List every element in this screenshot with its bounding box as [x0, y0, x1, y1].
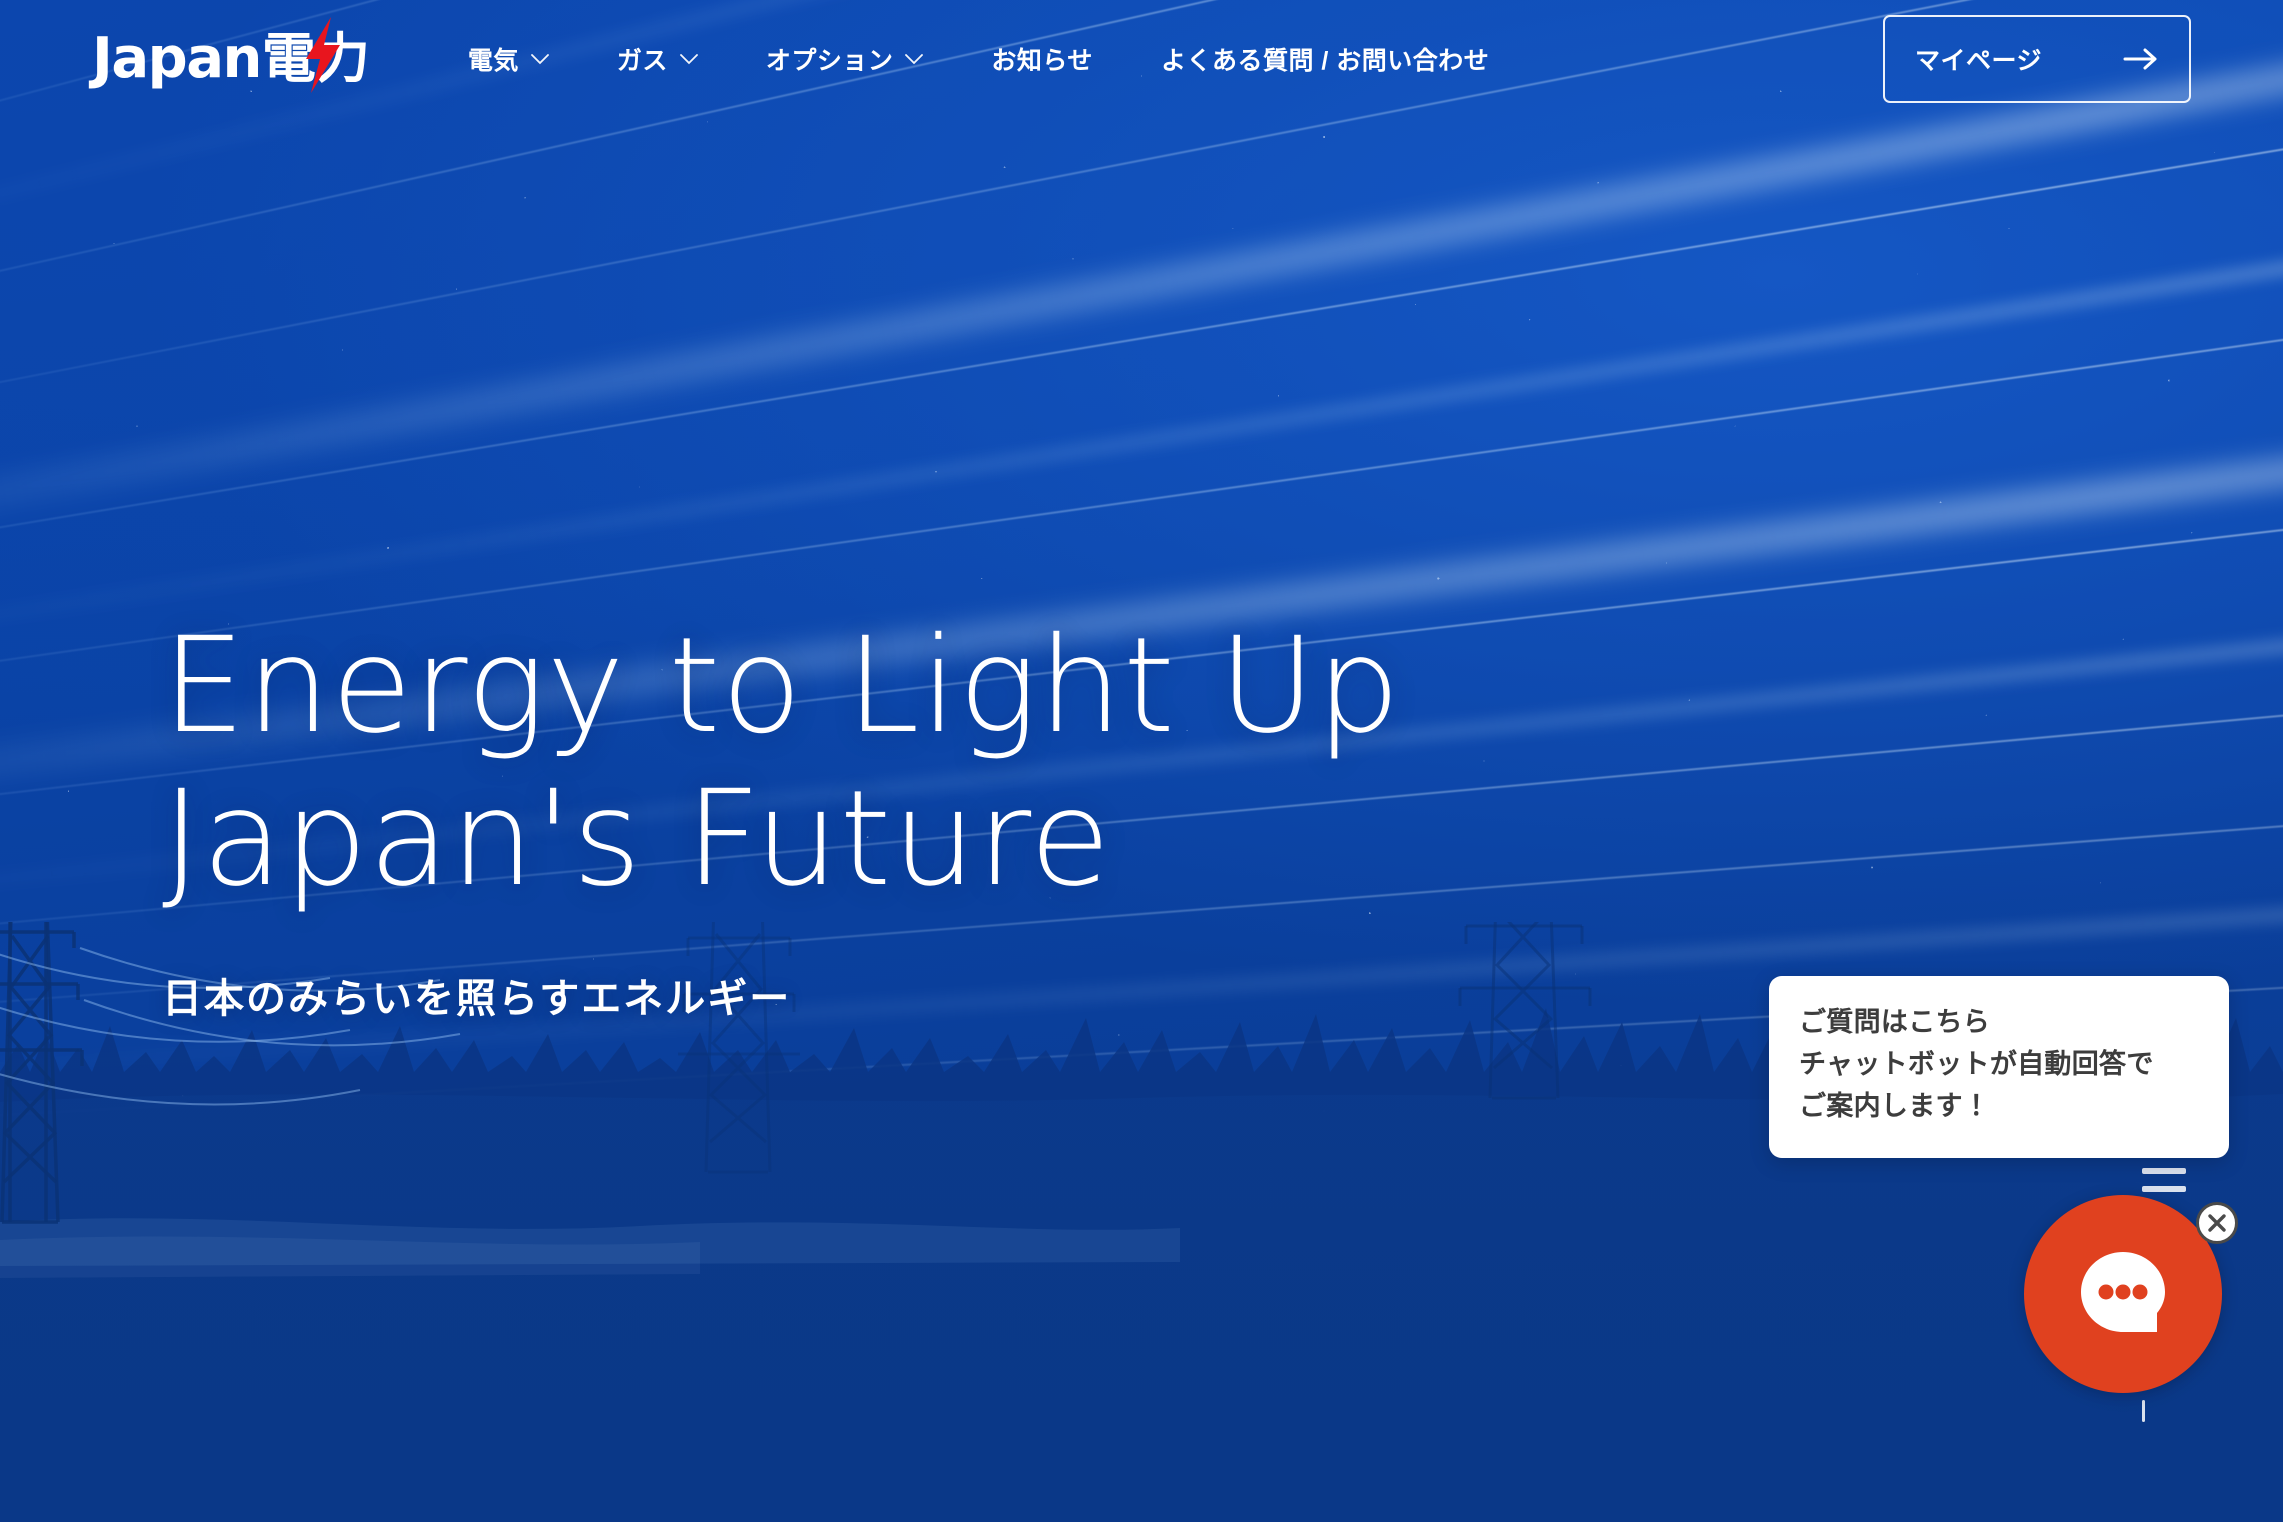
nav-item-gas[interactable]: ガス [617, 31, 698, 87]
nav-label: よくある質問 / お問い合わせ [1161, 41, 1489, 77]
nav-item-oshirase[interactable]: お知らせ [991, 31, 1093, 87]
chevron-down-icon [531, 54, 549, 65]
chatbot-open-button[interactable] [2024, 1195, 2222, 1393]
nav-label: オプション [766, 41, 894, 77]
mypage-button[interactable]: マイページ [1883, 15, 2191, 103]
hero-stage: Japan 電力 電気 ガス オプション [0, 0, 2283, 1522]
hero-headline: Energy to Light Up Japan's Future [162, 610, 1401, 916]
chat-bubble-icon [2077, 1248, 2169, 1340]
nav-item-faq-contact[interactable]: よくある質問 / お問い合わせ [1161, 31, 1489, 87]
mypage-label: マイページ [1915, 41, 2042, 77]
main-navigation: 電気 ガス オプション お知らせ よくある質問 / [468, 31, 1489, 87]
widget-ghost-mark-2 [2142, 1186, 2186, 1192]
widget-ghost-mark-3 [2142, 1400, 2145, 1422]
nav-label: 電気 [468, 41, 519, 77]
widget-ghost-mark-1 [2142, 1168, 2186, 1174]
nav-item-option[interactable]: オプション [766, 31, 924, 87]
logo-text-latin: Japan [92, 31, 261, 87]
chatbot-tooltip-text: ご質問はこちら チャットボットが自動回答で ご案内します！ [1799, 1002, 2199, 1128]
arrow-right-icon [2123, 48, 2159, 70]
hero-content: Energy to Light Up Japan's Future 日本のみらい… [162, 610, 1401, 1024]
site-header: Japan 電力 電気 ガス オプション [0, 0, 2283, 118]
nav-label: お知らせ [991, 41, 1093, 77]
chevron-down-icon [905, 54, 923, 65]
close-icon [2206, 1212, 2228, 1234]
hero-subheadline: 日本のみらいを照らすエネルギー [162, 966, 1401, 1024]
chatbot-tooltip: ご質問はこちら チャットボットが自動回答で ご案内します！ [1769, 976, 2229, 1158]
chatbot-close-button[interactable] [2196, 1202, 2238, 1244]
chevron-down-icon [680, 54, 698, 65]
nav-label: ガス [617, 41, 668, 77]
nav-item-denki[interactable]: 電気 [468, 31, 549, 87]
logo-text-kanji: 電力 [262, 32, 370, 86]
logo[interactable]: Japan 電力 [92, 27, 370, 91]
